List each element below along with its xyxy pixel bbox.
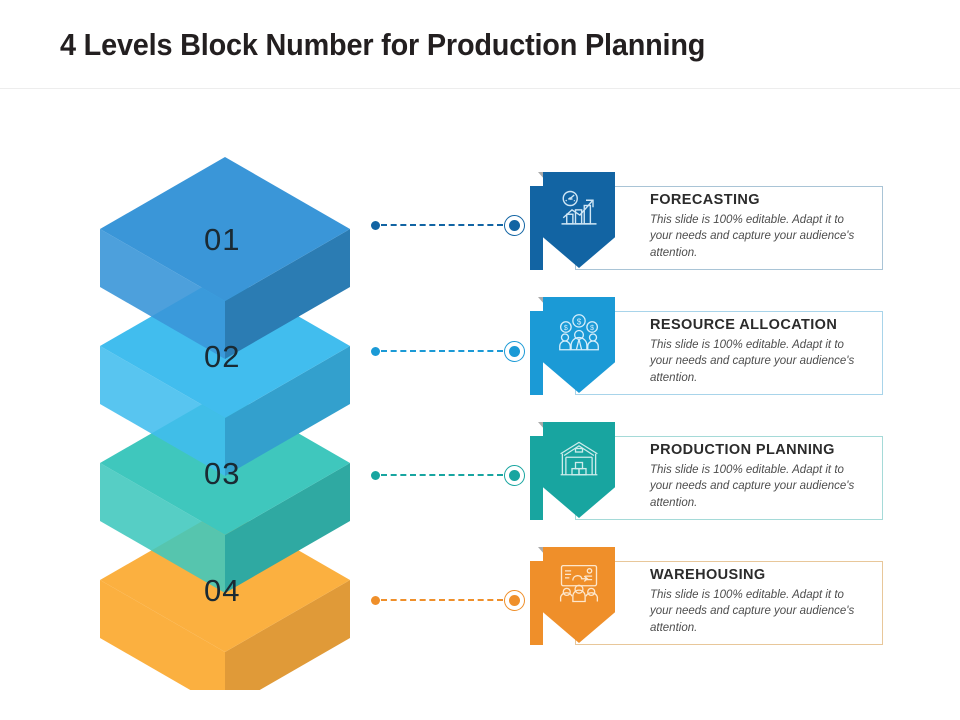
block-stack-svg (60, 110, 390, 690)
item-forecasting-pin-shadow (530, 186, 543, 270)
block-stack: 01 02 03 04 (60, 110, 390, 690)
item-resource-allocation-heading: RESOURCE ALLOCATION (650, 317, 865, 333)
item-resource-allocation[interactable]: $ $ $ RESOURCE ALLOCATION This slide is … (530, 295, 885, 405)
connector-3-line (381, 474, 503, 476)
connector-1-line (381, 224, 503, 226)
item-forecasting-text: FORECASTING This slide is 100% editable.… (650, 192, 865, 261)
connector-1-end-dot (509, 220, 520, 231)
connector-1-start-dot (371, 221, 380, 230)
connector-3-end-dot (509, 470, 520, 481)
item-resource-allocation-text: RESOURCE ALLOCATION This slide is 100% e… (650, 317, 865, 386)
item-forecasting[interactable]: FORECASTING This slide is 100% editable.… (530, 170, 885, 280)
item-warehousing-heading: WAREHOUSING (650, 567, 865, 583)
connector-2-start-dot (371, 347, 380, 356)
connector-4-line (381, 599, 503, 601)
connector-4-end-ring (504, 590, 525, 611)
connector-1 (371, 215, 525, 235)
connector-4 (371, 590, 525, 610)
item-resource-allocation-pin-shadow (530, 311, 543, 395)
connector-3-end-ring (504, 465, 525, 486)
item-warehousing[interactable]: WAREHOUSING This slide is 100% editable.… (530, 545, 885, 655)
connector-2-end-dot (509, 346, 520, 357)
connector-3 (371, 465, 525, 485)
slide-canvas: 4 Levels Block Number for Production Pla… (0, 0, 960, 720)
item-forecasting-heading: FORECASTING (650, 192, 865, 208)
item-production-planning-text: PRODUCTION PLANNING This slide is 100% e… (650, 442, 865, 511)
item-warehousing-text: WAREHOUSING This slide is 100% editable.… (650, 567, 865, 636)
item-production-planning-body: This slide is 100% editable. Adapt it to… (650, 462, 865, 511)
connector-3-start-dot (371, 471, 380, 480)
item-production-planning[interactable]: PRODUCTION PLANNING This slide is 100% e… (530, 420, 885, 530)
item-resource-allocation-body: This slide is 100% editable. Adapt it to… (650, 337, 865, 386)
connector-2-line (381, 350, 503, 352)
item-forecasting-body: This slide is 100% editable. Adapt it to… (650, 212, 865, 261)
item-production-planning-heading: PRODUCTION PLANNING (650, 442, 865, 458)
connector-2 (371, 341, 525, 361)
connector-4-end-dot (509, 595, 520, 606)
item-warehousing-body: This slide is 100% editable. Adapt it to… (650, 587, 865, 636)
title-divider (0, 88, 960, 89)
page-title: 4 Levels Block Number for Production Pla… (60, 27, 705, 63)
item-warehousing-pin-shadow (530, 561, 543, 645)
item-production-planning-pin-shadow (530, 436, 543, 520)
connector-2-end-ring (504, 341, 525, 362)
title-bar: 4 Levels Block Number for Production Pla… (0, 0, 960, 89)
connector-4-start-dot (371, 596, 380, 605)
connector-1-end-ring (504, 215, 525, 236)
